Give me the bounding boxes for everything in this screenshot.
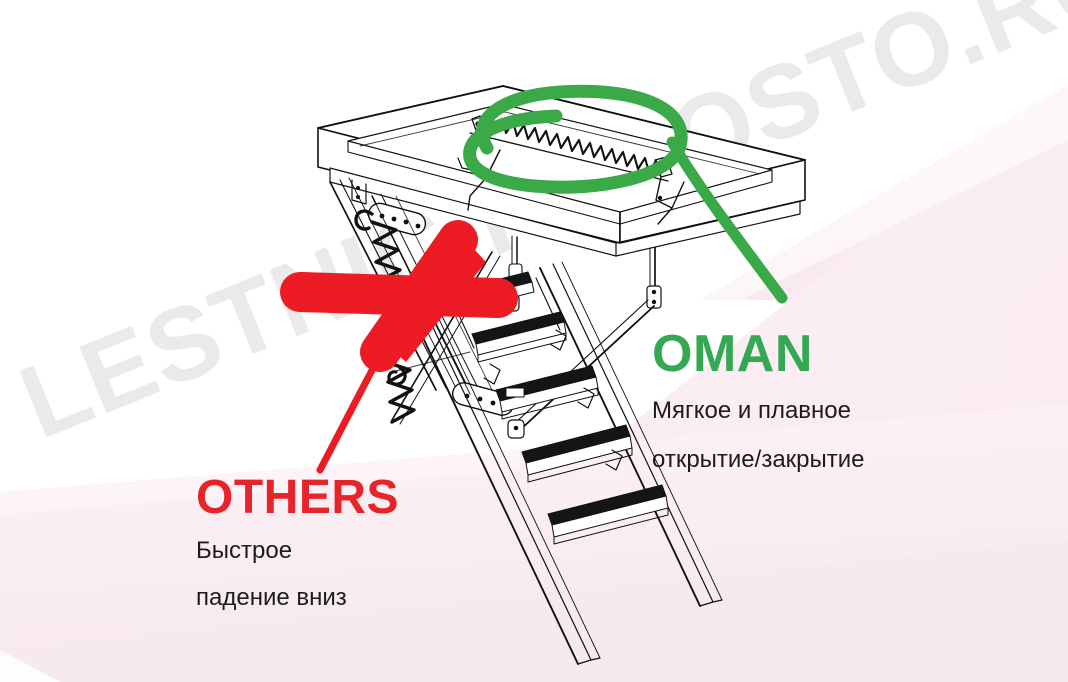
- illustration-canvas: LESTNIC-I-PROSTO.RU: [0, 0, 1068, 682]
- oman-subtitle-line-1: Мягкое и плавное: [652, 394, 865, 429]
- callout-oman: OMAN Мягкое и плавное открытие/закрытие: [652, 328, 865, 478]
- others-subtitle-line-2: падение вниз: [196, 581, 399, 616]
- green-marker-tail: [672, 142, 782, 298]
- others-subtitle-line-1: Быстрое: [196, 534, 399, 569]
- red-marker-tail: [320, 348, 384, 470]
- oman-title: OMAN: [652, 328, 865, 380]
- oman-subtitle-line-2: открытие/закрытие: [652, 443, 865, 478]
- others-title: OTHERS: [196, 474, 399, 522]
- annotation-markers-layer: [0, 0, 1068, 682]
- red-arrow-marker: [300, 236, 498, 470]
- green-ellipse-marker: [470, 91, 782, 298]
- callout-others: OTHERS Быстрое падение вниз: [196, 474, 399, 616]
